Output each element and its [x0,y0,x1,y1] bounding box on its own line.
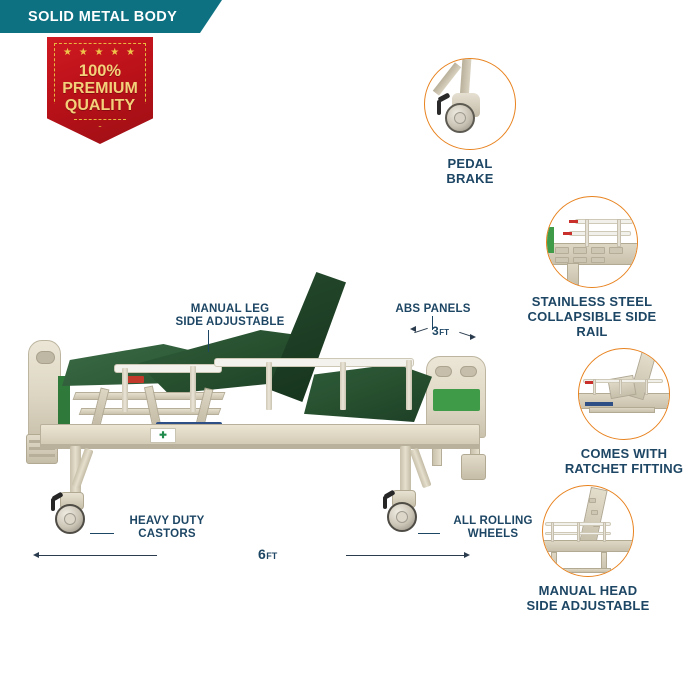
footboard-ridge-3 [29,454,55,457]
side-rail-post-3 [266,362,272,410]
header-ribbon: SOLID METAL BODY [0,0,222,33]
all-rolling-label-line1: ALL ROLLING [438,515,548,528]
feature-label-side-rail: STAINLESS STEEL COLLAPSIBLE SIDE RAIL [517,295,667,340]
side-rail-post-4 [340,362,346,410]
dim-3ft-arrow-right [470,334,476,340]
abs-panels-label: ABS PANELS [388,303,478,316]
side-rail-art [547,197,637,287]
dim-6ft-line-left [39,555,157,556]
manual-head-thumbnail [542,485,634,577]
ratchet-art [579,349,669,439]
annotation-all-rolling-wheels: ALL ROLLING WHEELS [438,515,548,541]
annotation-heavy-duty-castors: HEAVY DUTY CASTORS [112,515,222,541]
dim-3ft-value: 3 [432,324,439,338]
brand-logo-sticker: ✚ [150,428,176,443]
leader-line-castors [90,533,114,534]
ratchet-label-line1: COMES WITH [559,447,689,462]
side-rail-thumbnail [546,196,638,288]
badge-line-3: QUALITY [65,98,135,114]
feature-label-pedal-brake: PEDAL BRAKE [424,157,516,187]
badge-line-2: PREMIUM [62,81,138,97]
ribbon-label: SOLID METAL BODY [28,9,177,25]
annotation-manual-leg: MANUAL LEG SIDE ADJUSTABLE [140,303,320,329]
badge-divider [74,119,126,120]
side-rail-post-1 [122,368,128,412]
dim-6ft-value: 6 [258,546,266,562]
side-rail-post-5 [406,360,412,410]
badge-line-1: 100% [79,63,121,80]
feature-manual-head: MANUAL HEAD SIDE ADJUSTABLE [542,485,634,614]
infographic-canvas: SOLID METAL BODY ★ ★ ★ ★ ★ 100% PREMIUM … [0,0,700,700]
castor-right [384,490,426,538]
ratchet-label-line2: RATCHET FITTING [559,462,689,477]
side-rail-bar-left [114,364,222,373]
feature-ratchet-fitting: COMES WITH RATCHET FITTING [578,348,670,477]
bed-leg-right-brace [409,448,431,489]
manual-head-art [543,486,633,576]
annotation-abs-panels: ABS PANELS [388,303,478,316]
pedal-brake-art [425,59,515,149]
dim-6ft-unit: FT [266,551,277,561]
badge-stars: ★ ★ ★ ★ ★ [63,48,137,58]
feature-label-ratchet: COMES WITH RATCHET FITTING [559,447,689,477]
manual-head-label-line2: SIDE ADJUSTABLE [518,599,658,614]
pedal-brake-thumbnail [424,58,516,150]
dim-6ft-label: 6 FT [258,546,277,562]
leader-line-manual-leg [208,330,209,352]
heavy-duty-label-line2: CASTORS [112,528,222,541]
manual-leg-label-line1: MANUAL LEG [140,303,320,316]
mattress-head-section [304,364,432,422]
dim-3ft-unit: FT [439,328,449,337]
heavy-duty-label-line1: HEAVY DUTY [112,515,222,528]
leader-line-wheels [418,533,440,534]
side-rail-label-line1: STAINLESS STEEL [517,295,667,310]
side-rail-bar-right [214,358,414,367]
feature-label-manual-head: MANUAL HEAD SIDE ADJUSTABLE [518,584,658,614]
side-rail-label-line2: COLLAPSIBLE SIDE RAIL [517,310,667,340]
medical-cross-icon: ✚ [159,431,167,440]
side-rail-post-2 [190,366,196,412]
castor-left [52,492,94,540]
dim-6ft-line-right [346,555,464,556]
dim-3ft-arrow-left [410,326,416,332]
dim-3ft-label: 3 FT [432,324,449,338]
premium-quality-badge: ★ ★ ★ ★ ★ 100% PREMIUM QUALITY [47,37,153,144]
dim-6ft-arrow-right [464,552,470,558]
feature-side-rail: STAINLESS STEEL COLLAPSIBLE SIDE RAIL [546,196,638,340]
feature-pedal-brake: PEDAL BRAKE [424,58,516,187]
manual-head-label-line1: MANUAL HEAD [518,584,658,599]
headboard-base [461,454,486,480]
ratchet-thumbnail [578,348,670,440]
badge-content: ★ ★ ★ ★ ★ 100% PREMIUM QUALITY [47,37,153,144]
manual-leg-label-line2: SIDE ADJUSTABLE [140,316,320,329]
all-rolling-label-line2: WHEELS [438,528,548,541]
